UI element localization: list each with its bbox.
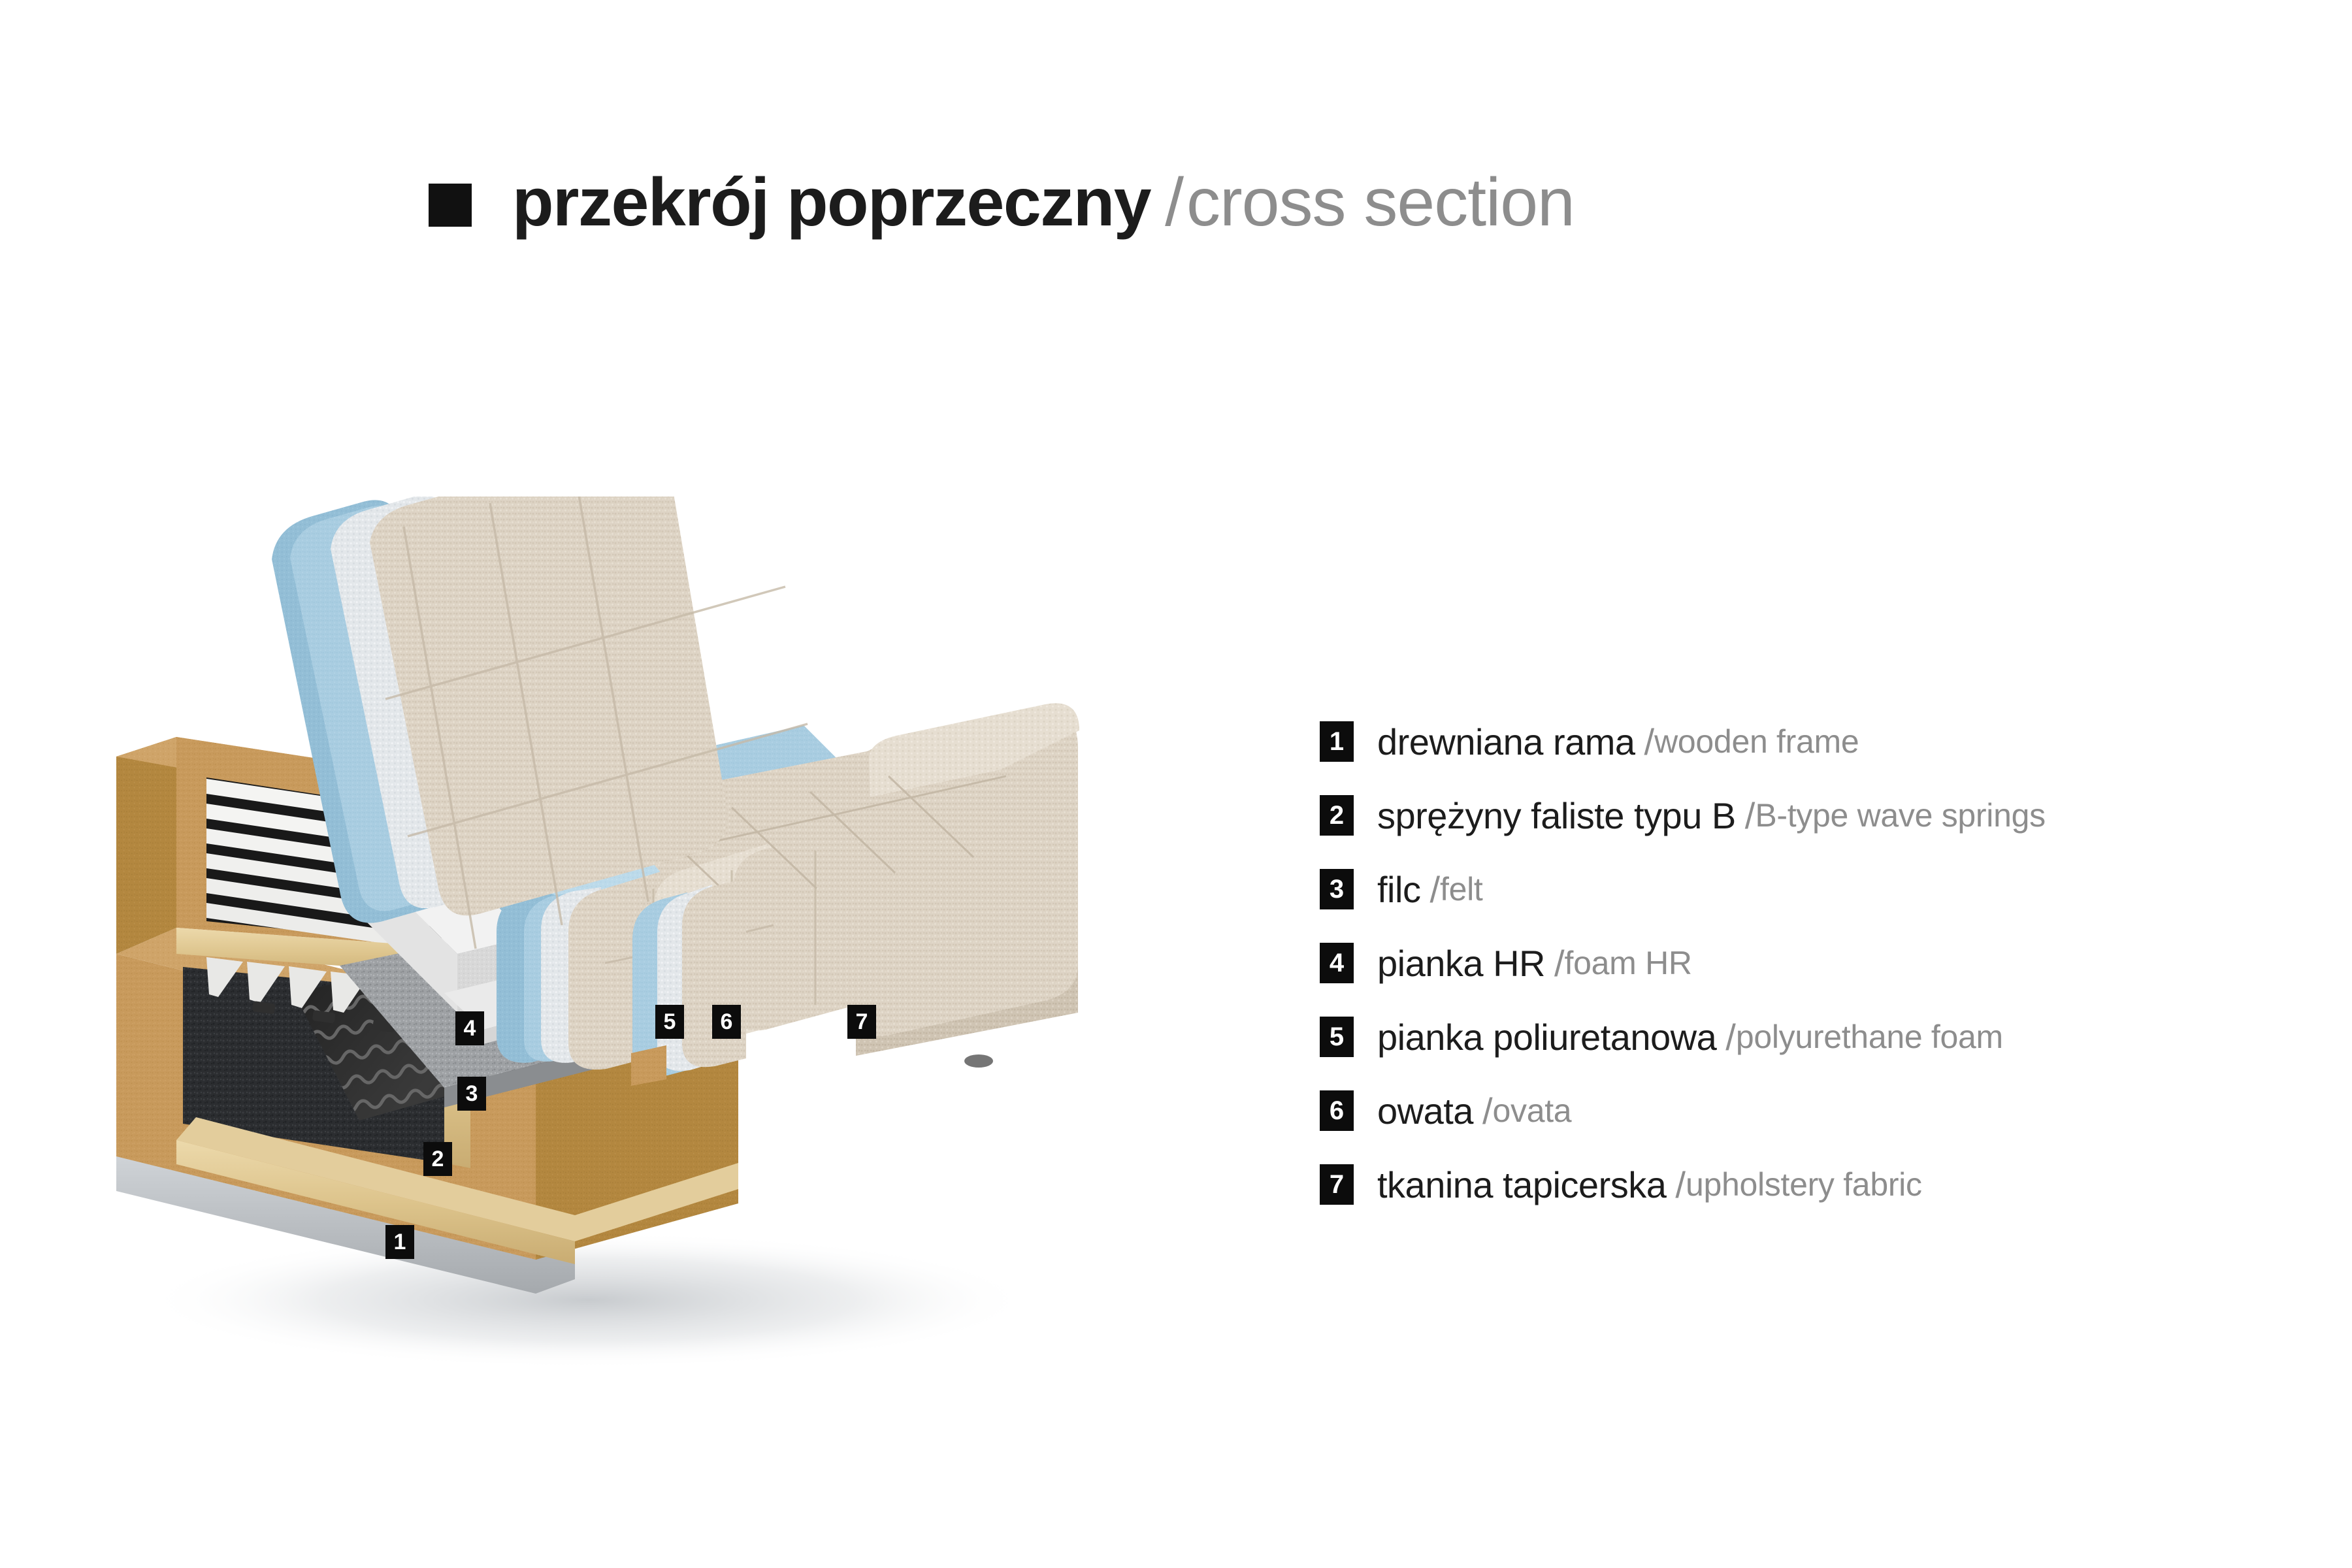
legend-label-pl-2: sprężyny faliste typu B — [1377, 794, 1736, 837]
legend-item-1: 1 drewniana rama / wooden frame — [1320, 721, 2046, 762]
illustration-marker-7: 7 — [847, 1005, 876, 1039]
legend-separator-2: / — [1745, 794, 1756, 837]
legend-item-5: 5 pianka poliuretanowa / polyurethane fo… — [1320, 1017, 2046, 1057]
legend-label-en-2: B-type wave springs — [1755, 796, 2046, 834]
page-title: przekrój poprzeczny / cross section — [429, 169, 1575, 237]
illustration-marker-4: 4 — [455, 1011, 484, 1045]
legend-badge-2: 2 — [1320, 795, 1354, 836]
sofa-cross-section-illustration — [78, 497, 1228, 1411]
illustration-marker-5: 5 — [655, 1005, 684, 1039]
legend-label-en-5: polyurethane foam — [1736, 1018, 2003, 1056]
illustration-marker-6: 6 — [712, 1005, 741, 1039]
legend-item-4: 4 pianka HR / foam HR — [1320, 943, 2046, 983]
legend-badge-1: 1 — [1320, 721, 1354, 762]
title-polish: przekrój poprzeczny — [512, 169, 1151, 237]
legend-label-pl-5: pianka poliuretanowa — [1377, 1016, 1716, 1058]
legend-label-en-3: felt — [1440, 870, 1483, 908]
illustration-marker-2: 2 — [423, 1142, 452, 1176]
title-separator: / — [1165, 169, 1184, 237]
legend-label-en-1: wooden frame — [1654, 723, 1859, 760]
legend-badge-5: 5 — [1320, 1017, 1354, 1057]
legend-badge-3: 3 — [1320, 869, 1354, 909]
legend-item-7: 7 tkanina tapicerska / upholstery fabric — [1320, 1164, 2046, 1205]
legend-separator-1: / — [1644, 721, 1655, 763]
legend-label-en-7: upholstery fabric — [1686, 1166, 1922, 1203]
title-english: cross section — [1186, 169, 1575, 237]
legend-label-pl-4: pianka HR — [1377, 942, 1545, 985]
legend-badge-7: 7 — [1320, 1164, 1354, 1205]
legend-label-pl-3: filc — [1377, 868, 1420, 911]
legend-label-pl-1: drewniana rama — [1377, 721, 1635, 763]
legend-label-pl-7: tkanina tapicerska — [1377, 1164, 1666, 1206]
illustration-marker-3: 3 — [457, 1077, 486, 1111]
legend-badge-4: 4 — [1320, 943, 1354, 983]
square-bullet-icon — [429, 184, 472, 227]
legend-separator-5: / — [1725, 1016, 1736, 1058]
materials-legend: 1 drewniana rama / wooden frame 2 spręży… — [1320, 721, 2046, 1238]
legend-label-en-6: ovata — [1493, 1092, 1572, 1130]
legend-label-pl-6: owata — [1377, 1090, 1473, 1132]
legend-item-3: 3 filc / felt — [1320, 869, 2046, 909]
legend-label-en-4: foam HR — [1565, 944, 1692, 982]
armrest-outer-face — [116, 737, 176, 954]
legend-separator-4: / — [1554, 942, 1565, 985]
legend-item-2: 2 sprężyny faliste typu B / B-type wave … — [1320, 795, 2046, 836]
legend-badge-6: 6 — [1320, 1090, 1354, 1131]
legend-separator-6: / — [1482, 1090, 1493, 1132]
illustration-marker-1: 1 — [385, 1225, 414, 1259]
legend-separator-3: / — [1429, 868, 1440, 911]
sofa-foot — [964, 1054, 993, 1068]
legend-item-6: 6 owata / ovata — [1320, 1090, 2046, 1131]
floor-shadow — [144, 1232, 1032, 1369]
legend-separator-7: / — [1675, 1164, 1686, 1206]
